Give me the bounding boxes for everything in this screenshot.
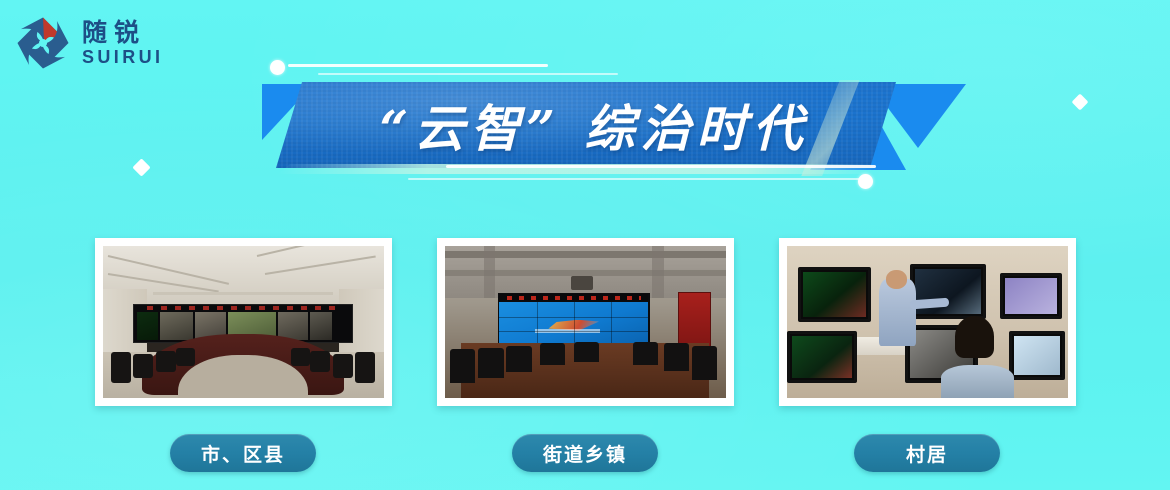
decor-diamond-right-icon <box>1072 94 1089 111</box>
level-cards-row: 市、区县 <box>0 238 1170 478</box>
brand-logo-text: 随锐 SUIRUI <box>82 20 163 66</box>
decor-dot-bottom-right-icon <box>858 174 873 189</box>
photo-frame <box>95 238 392 406</box>
title-banner-block: “云智” 综治时代 <box>258 52 958 192</box>
level-card-label-street-township[interactable]: 街道乡镇 <box>512 434 658 472</box>
decor-diamond-left-icon <box>132 158 150 176</box>
title-banner: “云智” 综治时代 <box>276 82 896 168</box>
photo-frame <box>779 238 1076 406</box>
page-title: “云智” 综治时代 <box>276 82 896 168</box>
level-card-city-district[interactable]: 市、区县 <box>95 238 392 472</box>
street-township-conference-room-photo <box>445 246 726 398</box>
village-community-monitoring-photo <box>787 246 1068 398</box>
brand-logo[interactable]: 随锐 SUIRUI <box>14 14 163 72</box>
brand-name-en: SUIRUI <box>82 48 163 66</box>
level-card-label-city-district[interactable]: 市、区县 <box>170 434 316 472</box>
decor-line-bottom-2 <box>408 178 863 180</box>
city-district-command-center-photo <box>103 246 384 398</box>
decor-line-top-2 <box>318 73 618 75</box>
decor-line-bottom-1 <box>446 165 876 168</box>
photo-frame <box>437 238 734 406</box>
decor-dot-top-left-icon <box>270 60 285 75</box>
level-card-label-village[interactable]: 村居 <box>854 434 1000 472</box>
brand-name-cn: 随锐 <box>82 20 163 45</box>
level-card-street-township[interactable]: 街道乡镇 <box>437 238 734 472</box>
decor-line-top-1 <box>288 64 548 67</box>
suirui-pinwheel-logo-icon <box>14 14 72 72</box>
level-card-village[interactable]: 村居 <box>779 238 1076 472</box>
